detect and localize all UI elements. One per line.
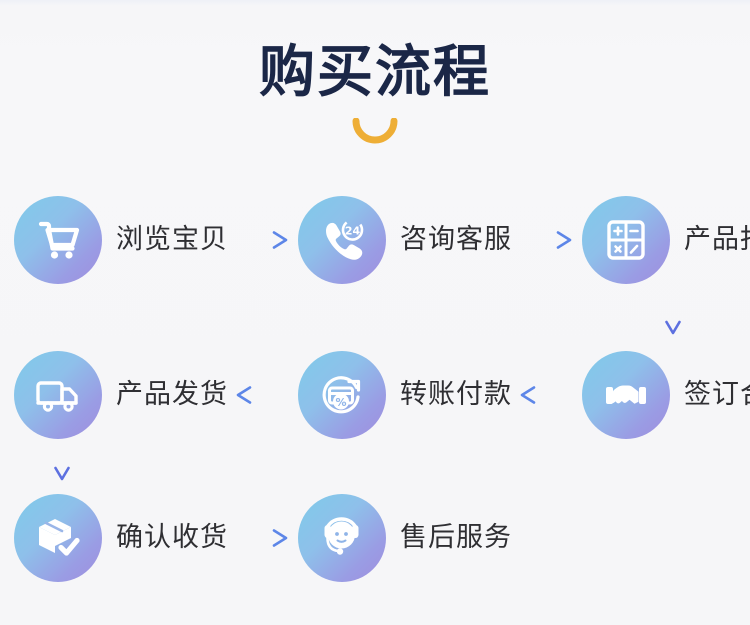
arrow-down-icon [49, 434, 75, 486]
calculator-icon [582, 196, 670, 284]
flow-row-2: 产品发货 % 转账付款 [0, 347, 750, 443]
step-product-quote[interactable]: 产品报价 [582, 196, 750, 284]
step-label: 确认收货 [116, 523, 228, 553]
headset-agent-icon [298, 494, 386, 582]
step-sign-contract[interactable]: 签订合同 [582, 351, 750, 439]
arrow-right-icon [518, 227, 576, 253]
step-transfer-payment[interactable]: % 转账付款 [298, 351, 512, 439]
svg-text:%: % [335, 396, 346, 409]
card-payment-refresh-icon: % [298, 351, 386, 439]
purchase-flow-page: 购买流程 浏览宝贝 [0, 0, 750, 625]
arrow-down-icon [660, 288, 686, 340]
arrow-left-icon [518, 382, 576, 408]
phone-24h-support-icon: 24 [298, 196, 386, 284]
step-label: 转账付款 [400, 380, 512, 410]
step-label: 签订合同 [684, 380, 750, 410]
page-title: 购买流程 [0, 42, 750, 104]
step-after-sales-service[interactable]: 售后服务 [298, 494, 512, 582]
step-confirm-receipt[interactable]: 确认收货 [14, 494, 228, 582]
arrow-right-icon [234, 227, 292, 253]
shopping-cart-icon [14, 196, 102, 284]
flow-row-3: 确认收货 [0, 490, 750, 586]
svg-text:24: 24 [345, 224, 361, 237]
step-label: 咨询客服 [400, 225, 512, 255]
smile-arc-icon [351, 118, 399, 144]
step-browse-products[interactable]: 浏览宝贝 [14, 196, 228, 284]
step-label: 产品报价 [684, 225, 750, 255]
step-label: 售后服务 [400, 523, 512, 553]
step-label: 浏览宝贝 [116, 225, 228, 255]
arrow-left-icon [234, 382, 292, 408]
step-label: 产品发货 [116, 380, 228, 410]
delivery-truck-icon [14, 351, 102, 439]
box-check-icon [14, 494, 102, 582]
flow-row-1: 浏览宝贝 24 咨询客服 [0, 192, 750, 288]
step-product-shipment[interactable]: 产品发货 [14, 351, 228, 439]
arrow-right-icon [234, 525, 292, 551]
handshake-icon [582, 351, 670, 439]
step-contact-service[interactable]: 24 咨询客服 [298, 196, 512, 284]
header: 购买流程 [0, 42, 750, 149]
